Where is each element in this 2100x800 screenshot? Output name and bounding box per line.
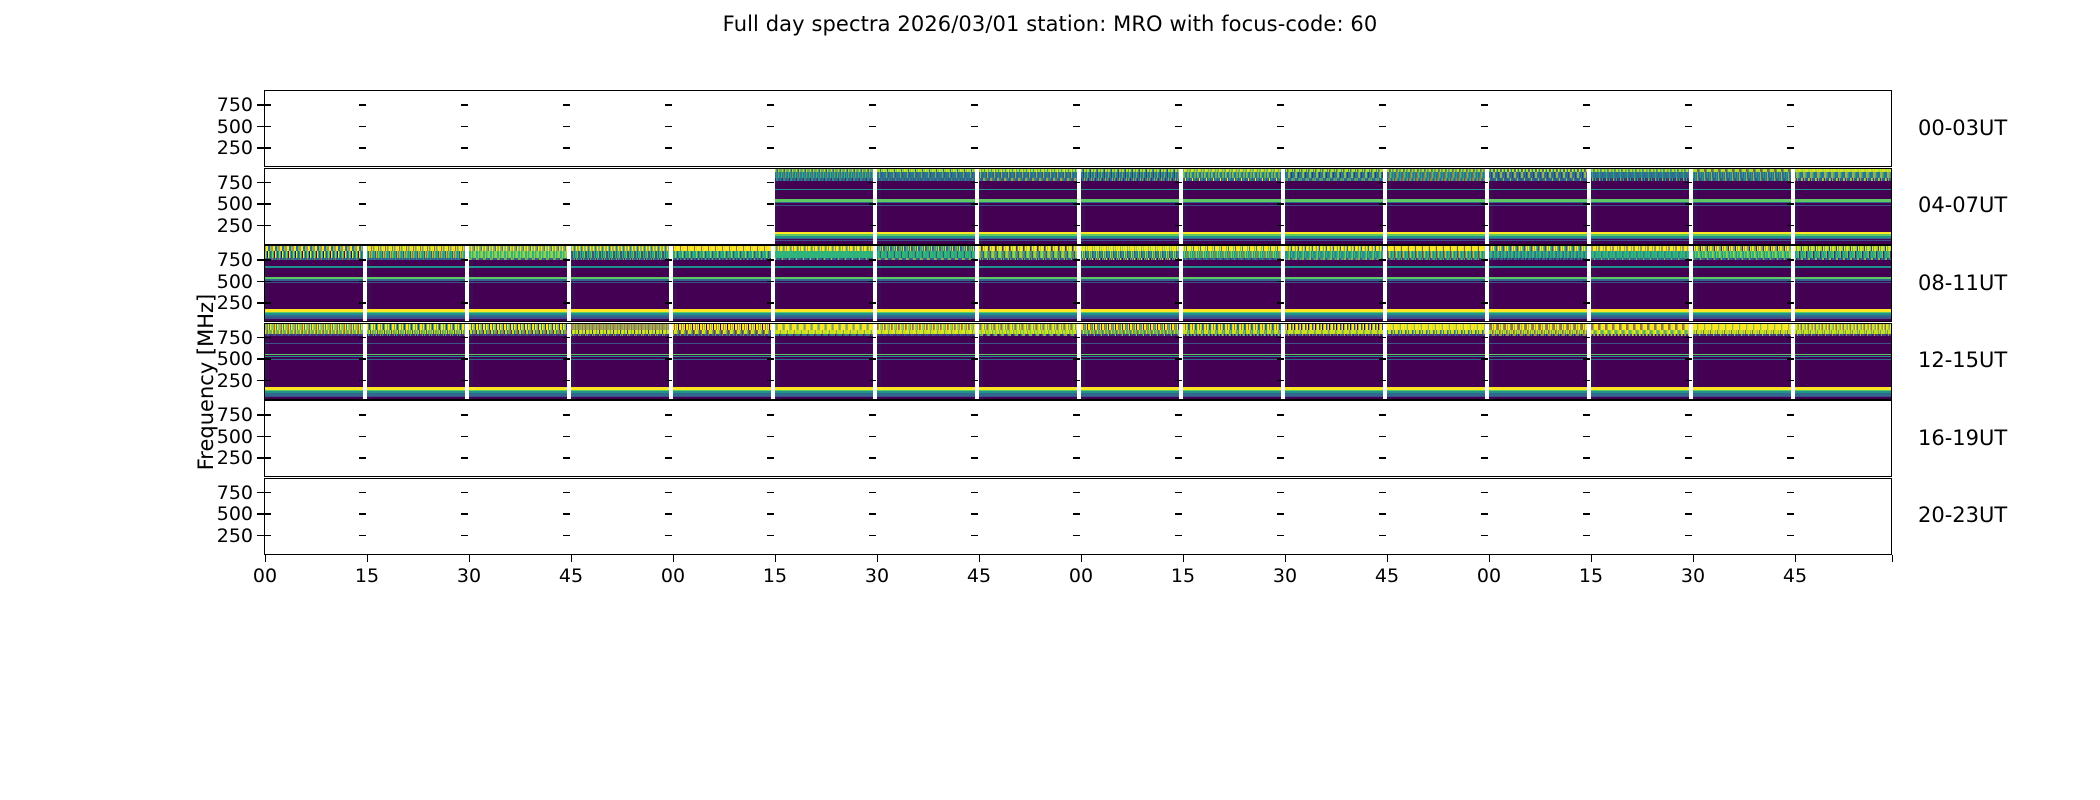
y-tick-label: 250 [207, 217, 253, 236]
spectrogram-panel[interactable] [673, 91, 771, 166]
spectrogram-panel[interactable] [775, 324, 873, 399]
spectral-band [1489, 396, 1587, 398]
spectral-band [1081, 334, 1179, 336]
spectral-band [1591, 279, 1689, 281]
x-tick-mark [1693, 555, 1694, 562]
y-tick-mark-inner [767, 147, 774, 148]
spectral-band [1387, 251, 1485, 258]
y-tick-mark [257, 203, 264, 204]
spectrogram-row-00-03[interactable] [264, 90, 1892, 167]
spectrogram-panel[interactable] [1387, 401, 1485, 476]
spectral-band [1183, 282, 1281, 283]
spectral-band [367, 251, 465, 258]
spectral-band [469, 396, 567, 398]
y-tick-mark-inner [1073, 203, 1080, 204]
spectrogram-panel[interactable] [1183, 401, 1281, 476]
y-tick-mark-inner [1175, 380, 1182, 381]
x-tick-label: 30 [1673, 567, 1713, 586]
y-tick-mark-inner [1583, 535, 1590, 536]
y-tick-mark-inner [1175, 302, 1182, 303]
spectrogram-panel[interactable] [571, 246, 669, 321]
spectral-band [1591, 359, 1689, 360]
spectral-band [877, 172, 975, 179]
spectral-band [1081, 189, 1179, 191]
spectral-band [1591, 258, 1689, 260]
spectrogram-panel[interactable] [1183, 324, 1281, 399]
spectrogram-panel[interactable] [979, 324, 1077, 399]
y-tick-label: 750 [207, 329, 253, 348]
spectrogram-panel[interactable] [1591, 401, 1689, 476]
spectral-band [469, 282, 567, 283]
spectrogram-panel[interactable] [1081, 246, 1179, 321]
spectrogram-panel[interactable] [1285, 324, 1383, 399]
y-tick-mark-inner [1787, 414, 1794, 415]
spectral-band [367, 359, 465, 360]
spectrogram-panel[interactable] [1183, 479, 1281, 554]
spectrogram-panel[interactable] [571, 324, 669, 399]
spectrogram-panel[interactable] [1489, 324, 1587, 399]
spectrogram-panel[interactable] [775, 401, 873, 476]
y-tick-mark-inner [563, 513, 570, 514]
spectral-band [1285, 205, 1383, 206]
y-tick-mark-inner [1073, 358, 1080, 359]
y-tick-mark-inner [1379, 302, 1386, 303]
spectrogram-panel[interactable] [1387, 324, 1485, 399]
spectral-band [979, 279, 1077, 281]
spectrogram-panel[interactable] [1081, 324, 1179, 399]
spectral-band [367, 317, 465, 319]
spectrogram-panel[interactable] [877, 401, 975, 476]
y-tick-mark-inner [767, 281, 774, 282]
y-tick-mark-inner [767, 337, 774, 338]
spectral-band [673, 317, 771, 319]
spectrogram-row-12-15[interactable] [264, 323, 1892, 400]
y-tick-mark-inner [665, 513, 672, 514]
row-label-00-03ut: 00-03UT [1918, 118, 2007, 139]
y-tick-mark-inner [1175, 513, 1182, 514]
spectral-band [571, 279, 669, 281]
spectrogram-panel[interactable] [1489, 401, 1587, 476]
y-tick-mark-inner [1175, 414, 1182, 415]
spectrogram-panel[interactable] [1489, 91, 1587, 166]
y-tick-mark-inner [767, 104, 774, 105]
spectrogram-panel[interactable] [265, 324, 363, 399]
y-tick-mark-inner [869, 126, 876, 127]
y-tick-mark-inner [359, 126, 366, 127]
spectral-band [367, 356, 465, 358]
spectral-band [1387, 258, 1485, 260]
spectrogram-panel[interactable] [1081, 91, 1179, 166]
spectral-band [877, 205, 975, 206]
y-tick-mark [257, 147, 264, 148]
spectrogram-panel[interactable] [571, 401, 669, 476]
spectrogram-panel[interactable] [673, 169, 771, 244]
spectrogram-panel[interactable] [1081, 401, 1179, 476]
spectrogram-panel[interactable] [1693, 401, 1791, 476]
spectral-band [775, 189, 873, 191]
y-tick-mark-inner [971, 457, 978, 458]
spectrogram-panel[interactable] [469, 479, 567, 554]
spectrogram-panel[interactable] [469, 324, 567, 399]
y-tick-mark-inner [359, 358, 366, 359]
spectrogram-panel[interactable] [1387, 479, 1485, 554]
y-tick-mark-inner [264, 492, 271, 493]
spectrogram-panel[interactable] [265, 246, 363, 321]
y-tick-mark-inner [359, 281, 366, 282]
x-tick-label: 00 [1469, 567, 1509, 586]
spectral-band [1693, 205, 1791, 206]
spectrogram-panel[interactable] [673, 479, 771, 554]
y-tick-mark-inner [1277, 535, 1284, 536]
spectral-band [469, 343, 567, 344]
y-tick-mark-inner [665, 203, 672, 204]
y-tick-mark-inner [767, 358, 774, 359]
page-title: Full day spectra 2026/03/01 station: MRO… [0, 12, 2100, 36]
y-tick-mark-inner [1787, 535, 1794, 536]
y-tick-mark-inner [1175, 104, 1182, 105]
spectrogram-panel[interactable] [1489, 246, 1587, 321]
spectral-band [673, 282, 771, 283]
spectrogram-panel[interactable] [1795, 401, 1892, 476]
y-tick-mark-inner [461, 358, 468, 359]
spectrogram-panel[interactable] [877, 169, 975, 244]
spectrogram-panel[interactable] [979, 91, 1077, 166]
x-tick-label: 45 [959, 567, 999, 586]
spectral-band [979, 172, 1077, 179]
spectral-band [1795, 279, 1892, 281]
y-tick-mark-inner [1073, 225, 1080, 226]
y-tick-mark-inner [1481, 414, 1488, 415]
y-tick-mark-inner [1073, 259, 1080, 260]
y-tick-mark-inner [1787, 358, 1794, 359]
spectral-band [1387, 189, 1485, 191]
spectral-band [1693, 343, 1791, 344]
spectral-band [1387, 359, 1485, 360]
spectrogram-panel[interactable] [367, 246, 465, 321]
y-tick-mark-inner [1481, 302, 1488, 303]
y-tick-mark [257, 513, 264, 514]
spectral-band [367, 396, 465, 398]
spectral-band [1081, 172, 1179, 179]
y-tick-mark-inner [461, 302, 468, 303]
spectrogram-panel[interactable] [1285, 169, 1383, 244]
y-tick-mark-inner [563, 337, 570, 338]
spectral-band [1387, 178, 1485, 180]
y-tick-mark-inner [1277, 302, 1284, 303]
x-tick-mark [367, 555, 368, 562]
spectral-band [877, 334, 975, 336]
spectrogram-row-08-11[interactable] [264, 245, 1892, 322]
y-tick-mark-inner [1379, 182, 1386, 183]
spectrogram-panel[interactable] [1591, 169, 1689, 244]
y-tick-mark-inner [1787, 436, 1794, 437]
y-tick-mark-inner [1175, 492, 1182, 493]
spectrogram-panel[interactable] [571, 169, 669, 244]
spectrogram-panel[interactable] [1693, 479, 1791, 554]
y-tick-mark-inner [1379, 457, 1386, 458]
spectrogram-panel[interactable] [1387, 169, 1485, 244]
y-tick-mark-inner [767, 182, 774, 183]
spectrogram-panel[interactable] [1285, 91, 1383, 166]
y-tick-label: 500 [207, 273, 253, 292]
spectrogram-panel[interactable] [1183, 91, 1281, 166]
y-tick-mark-inner [971, 203, 978, 204]
y-tick-mark-inner [971, 126, 978, 127]
spectral-band [979, 356, 1077, 358]
y-tick-mark-inner [869, 337, 876, 338]
y-tick-mark-inner [869, 182, 876, 183]
y-tick-mark-inner [1481, 259, 1488, 260]
y-tick-mark-inner [665, 380, 672, 381]
spectrogram-panel[interactable] [367, 169, 465, 244]
y-tick-mark-inner [1277, 337, 1284, 338]
y-tick-label: 500 [207, 195, 253, 214]
spectrogram-panel[interactable] [673, 324, 771, 399]
y-tick-mark-inner [767, 302, 774, 303]
spectral-band [1693, 266, 1791, 268]
spectral-band [1387, 205, 1485, 206]
spectral-band [1285, 396, 1383, 398]
y-tick-mark-inner [1787, 104, 1794, 105]
spectral-band [367, 266, 465, 268]
spectrogram-panel[interactable] [1285, 479, 1383, 554]
y-tick-mark-inner [1685, 414, 1692, 415]
y-tick-mark-inner [1787, 126, 1794, 127]
spectrogram-panel[interactable] [1387, 91, 1485, 166]
spectral-band [1795, 324, 1892, 331]
spectrogram-panel[interactable] [469, 246, 567, 321]
spectrogram-panel[interactable] [1285, 401, 1383, 476]
spectrogram-panel[interactable] [775, 169, 873, 244]
y-tick-mark-inner [1379, 492, 1386, 493]
spectral-band [1591, 189, 1689, 191]
y-tick-mark-inner [767, 436, 774, 437]
spectrogram-panel[interactable] [1285, 246, 1383, 321]
y-tick-mark-inner [971, 182, 978, 183]
spectral-band [979, 324, 1077, 331]
spectrogram-panel[interactable] [1081, 479, 1179, 554]
spectrogram-panel[interactable] [1183, 246, 1281, 321]
spectrogram-panel[interactable] [1183, 169, 1281, 244]
spectrogram-panel[interactable] [469, 91, 567, 166]
y-tick-mark-inner [461, 535, 468, 536]
y-tick-mark-inner [767, 513, 774, 514]
spectrogram-panel[interactable] [1489, 169, 1587, 244]
spectral-band [1387, 356, 1485, 358]
spectrogram-panel[interactable] [1693, 246, 1791, 321]
y-tick-mark-inner [1685, 203, 1692, 204]
spectrogram-panel[interactable] [673, 246, 771, 321]
y-tick-mark-inner [461, 281, 468, 282]
y-tick-mark-inner [563, 380, 570, 381]
spectrogram-panel[interactable] [265, 479, 363, 554]
y-tick-mark-inner [1073, 302, 1080, 303]
spectral-band [367, 258, 465, 260]
spectrogram-panel[interactable] [367, 324, 465, 399]
spectral-band [1693, 202, 1791, 204]
spectrogram-panel[interactable] [1795, 324, 1892, 399]
y-tick-mark-inner [971, 281, 978, 282]
y-tick-mark-inner [264, 203, 271, 204]
spectral-band [877, 251, 975, 258]
y-tick-mark-inner [1277, 513, 1284, 514]
y-tick-mark-inner [1583, 337, 1590, 338]
spectrogram-panel[interactable] [1591, 324, 1689, 399]
y-tick-mark-inner [264, 380, 271, 381]
spectral-band [1489, 334, 1587, 336]
spectral-band [1489, 205, 1587, 206]
spectral-band [1183, 202, 1281, 204]
spectrogram-panel[interactable] [1693, 169, 1791, 244]
spectral-band [775, 251, 873, 258]
y-tick-mark [257, 182, 264, 183]
y-tick-label: 250 [207, 139, 253, 158]
spectrogram-panel[interactable] [571, 479, 669, 554]
spectral-band [1693, 359, 1791, 360]
spectral-band [1489, 172, 1587, 179]
spectral-band [1387, 396, 1485, 398]
spectrogram-row-04-07[interactable] [264, 168, 1892, 245]
y-tick-mark-inner [971, 147, 978, 148]
row-label-16-19ut: 16-19UT [1918, 428, 2007, 449]
spectral-band [1183, 251, 1281, 258]
y-tick-mark [257, 380, 264, 381]
spectrogram-panel[interactable] [367, 479, 465, 554]
spectrogram-panel[interactable] [1693, 91, 1791, 166]
spectral-band [1183, 334, 1281, 336]
spectral-band [775, 240, 873, 242]
spectrogram-panel[interactable] [673, 401, 771, 476]
y-tick-mark-inner [869, 302, 876, 303]
spectral-band [1387, 240, 1485, 242]
spectral-band [1081, 266, 1179, 268]
spectrogram-panel[interactable] [265, 401, 363, 476]
spectrogram-panel[interactable] [877, 246, 975, 321]
y-tick-mark-inner [264, 182, 271, 183]
spectrogram-panel[interactable] [979, 246, 1077, 321]
spectrogram-panel[interactable] [1591, 246, 1689, 321]
y-tick-mark-inner [1379, 513, 1386, 514]
y-tick-mark-inner [1787, 281, 1794, 282]
spectrogram-panel[interactable] [367, 401, 465, 476]
spectrogram-panel[interactable] [265, 91, 363, 166]
y-tick-mark-inner [1787, 182, 1794, 183]
y-tick-mark-inner [461, 380, 468, 381]
spectrogram-panel[interactable] [265, 169, 363, 244]
spectral-band [979, 396, 1077, 398]
spectrogram-panel[interactable] [877, 324, 975, 399]
y-tick-mark-inner [869, 513, 876, 514]
y-tick-mark [257, 358, 264, 359]
spectrogram-panel[interactable] [775, 246, 873, 321]
spectrogram-panel[interactable] [979, 479, 1077, 554]
spectrogram-panel[interactable] [1387, 246, 1485, 321]
y-tick-mark-inner [665, 535, 672, 536]
spectrogram-panel[interactable] [1795, 246, 1892, 321]
spectrogram-panel[interactable] [571, 91, 669, 166]
spectral-band [469, 356, 567, 358]
spectrogram-panel[interactable] [1795, 169, 1892, 244]
spectral-band [775, 356, 873, 358]
y-tick-mark-inner [1175, 281, 1182, 282]
spectrogram-panel[interactable] [1693, 324, 1791, 399]
spectral-band [877, 282, 975, 283]
y-tick-mark-inner [767, 380, 774, 381]
spectral-band [469, 279, 567, 281]
spectral-band [775, 178, 873, 180]
spectrogram-panel[interactable] [1591, 91, 1689, 166]
spectrogram-row-16-19[interactable] [264, 400, 1892, 477]
y-tick-mark-inner [1685, 281, 1692, 282]
spectrogram-row-20-23[interactable] [264, 478, 1892, 555]
spectral-band [673, 279, 771, 281]
y-tick-mark-inner [1175, 358, 1182, 359]
spectral-band [775, 343, 873, 344]
y-tick-mark-inner [665, 281, 672, 282]
y-tick-mark [257, 414, 264, 415]
spectrogram-panel[interactable] [775, 479, 873, 554]
y-tick-mark [257, 457, 264, 458]
spectrogram-panel[interactable] [877, 479, 975, 554]
spectral-band [877, 279, 975, 281]
y-tick-mark-inner [1073, 281, 1080, 282]
spectral-band [1285, 324, 1383, 331]
x-tick-mark [469, 555, 470, 562]
spectral-band [265, 282, 363, 283]
spectral-band [1693, 317, 1791, 319]
y-tick-mark-inner [563, 147, 570, 148]
y-tick-mark [257, 225, 264, 226]
spectrogram-panel[interactable] [469, 169, 567, 244]
spectrogram-panel[interactable] [979, 169, 1077, 244]
spectral-band [1693, 356, 1791, 358]
spectral-band [1795, 251, 1892, 258]
spectrogram-panel[interactable] [1591, 479, 1689, 554]
y-tick-mark-inner [359, 302, 366, 303]
y-tick-mark-inner [563, 414, 570, 415]
spectrogram-panel[interactable] [1795, 91, 1892, 166]
spectrogram-panel[interactable] [1081, 169, 1179, 244]
spectrogram-panel[interactable] [469, 401, 567, 476]
spectral-band [1795, 266, 1892, 268]
y-tick-mark-inner [563, 126, 570, 127]
y-tick-mark-inner [359, 104, 366, 105]
y-tick-mark-inner [1073, 147, 1080, 148]
spectrogram-panel[interactable] [979, 401, 1077, 476]
spectrogram-panel[interactable] [877, 91, 975, 166]
y-tick-mark-inner [461, 436, 468, 437]
spectrogram-panel[interactable] [775, 91, 873, 166]
y-tick-mark-inner [264, 281, 271, 282]
y-tick-mark-inner [264, 436, 271, 437]
spectrogram-panel[interactable] [1795, 479, 1892, 554]
y-tick-mark-inner [264, 535, 271, 536]
y-tick-mark-inner [1787, 457, 1794, 458]
y-tick-mark-inner [1685, 302, 1692, 303]
x-tick-label: 15 [1571, 567, 1611, 586]
y-tick-mark-inner [665, 358, 672, 359]
spectral-band [265, 251, 363, 258]
spectral-band [1081, 202, 1179, 204]
y-tick-mark-inner [1481, 182, 1488, 183]
spectrogram-panel[interactable] [1489, 479, 1587, 554]
y-tick-mark-inner [1379, 259, 1386, 260]
spectral-band [367, 343, 465, 344]
y-tick-mark-inner [563, 492, 570, 493]
spectral-band [1795, 189, 1892, 191]
spectrogram-panel[interactable] [367, 91, 465, 166]
spectral-band [1081, 251, 1179, 258]
